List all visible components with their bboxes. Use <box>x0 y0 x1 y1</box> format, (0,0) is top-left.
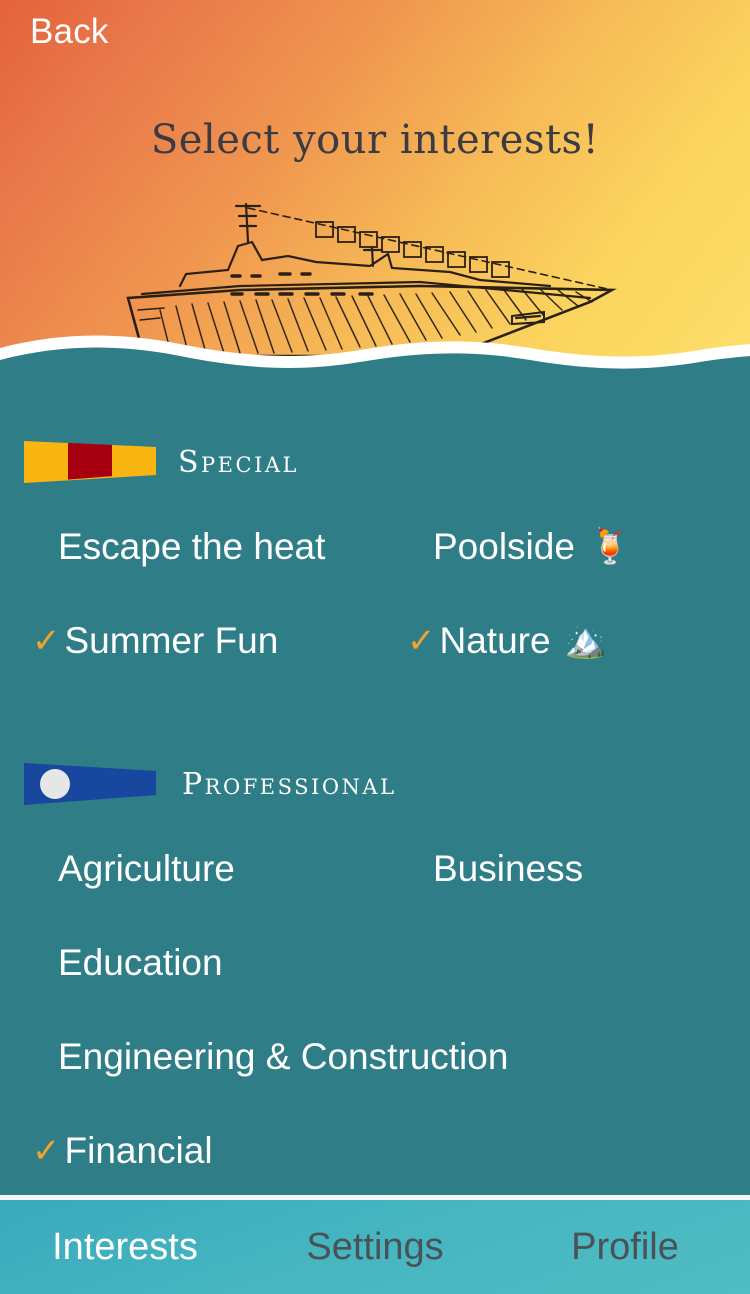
interest-label: Nature <box>440 620 551 662</box>
interest-nature[interactable]: ✓ Nature 🏔️ <box>407 620 750 662</box>
interest-label: Agriculture <box>58 848 235 890</box>
interest-label: Engineering & Construction <box>58 1036 508 1078</box>
tab-interests[interactable]: Interests <box>0 1226 250 1269</box>
section-rows-special: Escape the heat Poolside 🍹 ✓ Summer Fun <box>0 500 750 688</box>
interest-cell: Business <box>375 848 750 890</box>
interest-label: Poolside <box>433 526 575 568</box>
tab-profile[interactable]: Profile <box>500 1226 750 1269</box>
section-label-special: Special <box>178 445 299 480</box>
interest-education[interactable]: Education <box>58 942 375 984</box>
mountain-icon: 🏔️ <box>565 624 607 658</box>
interest-label: Education <box>58 942 223 984</box>
interest-financial[interactable]: ✓ Financial <box>32 1130 375 1172</box>
interest-escape-the-heat[interactable]: Escape the heat <box>58 526 375 568</box>
interest-business[interactable]: Business <box>433 848 750 890</box>
section-header-professional: Professional <box>0 756 750 812</box>
signal-flag-special-icon <box>24 439 156 485</box>
interest-row: Education <box>0 916 750 1010</box>
interest-agriculture[interactable]: Agriculture <box>58 848 375 890</box>
bottom-tab-bar: Interests Settings Profile <box>0 1195 750 1294</box>
tropical-drink-icon: 🍹 <box>589 530 631 564</box>
interests-list: Special Escape the heat Poolside 🍹 <box>0 372 750 1200</box>
check-icon: ✓ <box>32 624 61 658</box>
interest-cell: ✓ Summer Fun <box>0 620 375 662</box>
interest-label: Escape the heat <box>58 526 325 568</box>
interest-cell: ✓ Nature 🏔️ <box>375 620 750 662</box>
interest-row: Agriculture Business <box>0 822 750 916</box>
back-button[interactable]: Back <box>30 12 109 52</box>
signal-flag-professional-icon <box>24 761 156 807</box>
check-icon: ✓ <box>32 1134 61 1168</box>
section-label-professional: Professional <box>182 767 397 802</box>
page-title: Select your interests! <box>0 117 750 163</box>
section-header-special: Special <box>0 434 750 490</box>
interest-label: Summer Fun <box>65 620 279 662</box>
interest-row: ✓ Summer Fun ✓ Nature 🏔️ <box>0 594 750 688</box>
interest-cell: Education <box>0 942 375 984</box>
check-icon: ✓ <box>407 624 436 658</box>
interest-engineering-construction[interactable]: Engineering & Construction <box>58 1036 375 1078</box>
wave-divider <box>0 330 750 372</box>
interest-cell: Agriculture <box>0 848 375 890</box>
interest-summer-fun[interactable]: ✓ Summer Fun <box>32 620 375 662</box>
interest-row: Engineering & Construction <box>0 1010 750 1104</box>
section-rows-professional: Agriculture Business Education <box>0 822 750 1198</box>
interest-cell: Escape the heat <box>0 526 375 568</box>
interest-label: Financial <box>65 1130 213 1172</box>
interest-cell: Engineering & Construction <box>0 1036 375 1078</box>
interest-cell: Poolside 🍹 <box>375 526 750 568</box>
app-screen: Back Select your interests! <box>0 0 750 1294</box>
interest-row: ✓ Financial <box>0 1104 750 1198</box>
interest-label: Business <box>433 848 583 890</box>
interest-cell: ✓ Financial <box>0 1130 375 1172</box>
interest-row: Escape the heat Poolside 🍹 <box>0 500 750 594</box>
header-banner: Back Select your interests! <box>0 0 750 372</box>
tab-settings[interactable]: Settings <box>250 1226 500 1269</box>
interest-poolside[interactable]: Poolside 🍹 <box>433 526 750 568</box>
